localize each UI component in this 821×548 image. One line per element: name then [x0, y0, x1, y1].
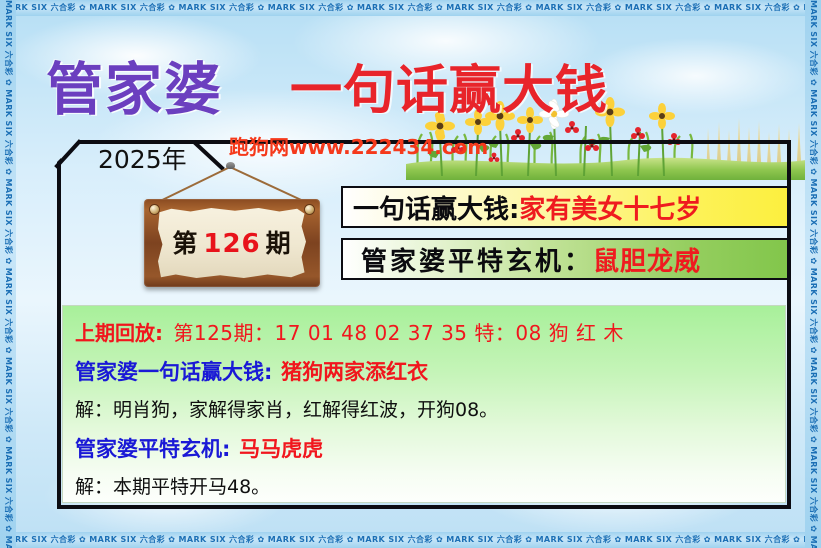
- banner-saying-value: 家有美女十七岁: [519, 189, 701, 226]
- masthead: 管家婆 一句话赢大钱: [46, 44, 706, 120]
- poster-page: 管家婆 一句话赢大钱 跑狗网www.222434.com 2025年: [0, 0, 821, 548]
- border-pattern-top-text: MARK SIX 六合彩 ✿ MARK SIX 六合彩 ✿ MARK SIX 六…: [0, 3, 821, 12]
- sign-ring-right-icon: [305, 205, 314, 214]
- content-panel: 上期回放: 第125期：17 01 48 02 37 35 特：08 狗 红 木…: [62, 305, 786, 503]
- sign-ring-left-icon: [150, 205, 159, 214]
- previous-draw-row: 上期回放: 第125期：17 01 48 02 37 35 特：08 狗 红 木: [75, 317, 785, 346]
- issue-sign: 第126期: [122, 162, 338, 302]
- banner-saying: 一句话赢大钱: 家有美女十七岁: [341, 186, 789, 228]
- brand-title: 管家婆: [46, 44, 223, 126]
- previous-mystic-row: 管家婆平特玄机: 马马虎虎: [75, 433, 785, 463]
- border-pattern-right-text: MARK SIX 六合彩 ✿ MARK SIX 六合彩 ✿ MARK SIX 六…: [805, 0, 821, 548]
- previous-saying-explanation: 解：明肖狗，家解得家肖，红解得红波，开狗08。: [75, 395, 785, 422]
- issue-suffix: 期: [266, 229, 292, 258]
- sign-board: 第126期: [144, 199, 320, 287]
- border-pattern-bottom: MARK SIX 六合彩 ✿ MARK SIX 六合彩 ✿ MARK SIX 六…: [0, 532, 821, 548]
- border-pattern-left-text: MARK SIX 六合彩 ✿ MARK SIX 六合彩 ✿ MARK SIX 六…: [0, 0, 16, 548]
- frame-corner-chamfer: [53, 136, 93, 176]
- banner-mystic-value: 鼠胆龙威: [593, 241, 701, 278]
- previous-saying-value: 猪狗两家添红衣: [279, 360, 428, 384]
- banner-mystic: 管家婆平特玄机： 鼠胆龙威: [341, 238, 789, 280]
- border-pattern-right: MARK SIX 六合彩 ✿ MARK SIX 六合彩 ✿ MARK SIX 六…: [805, 0, 821, 548]
- banner-mystic-label: 管家婆平特玄机：: [343, 241, 593, 278]
- border-pattern-top: MARK SIX 六合彩 ✿ MARK SIX 六合彩 ✿ MARK SIX 六…: [0, 0, 821, 16]
- banner-saying-label: 一句话赢大钱:: [343, 189, 519, 226]
- previous-saying-label: 管家婆一句话赢大钱:: [75, 360, 272, 384]
- border-pattern-left: MARK SIX 六合彩 ✿ MARK SIX 六合彩 ✿ MARK SIX 六…: [0, 0, 16, 548]
- slogan-title: 一句话赢大钱: [290, 48, 608, 123]
- border-pattern-bottom-text: MARK SIX 六合彩 ✿ MARK SIX 六合彩 ✿ MARK SIX 六…: [0, 535, 821, 544]
- previous-mystic-label: 管家婆平特玄机:: [75, 437, 230, 461]
- previous-draw-label: 上期回放:: [75, 321, 163, 345]
- previous-draw-value: 第125期：17 01 48 02 37 35 特：08 狗 红 木: [169, 321, 624, 345]
- previous-mystic-explanation: 解：本期平特开马48。: [75, 472, 785, 499]
- issue-number: 126: [198, 229, 265, 259]
- previous-mystic-value: 马马虎虎: [237, 437, 323, 461]
- sky-background: 管家婆 一句话赢大钱 跑狗网www.222434.com 2025年: [16, 16, 805, 532]
- site-url-link[interactable]: 跑狗网www.222434.com: [229, 131, 488, 160]
- sign-paper: 第126期: [158, 208, 306, 278]
- issue-number-text: 第126期: [172, 224, 291, 260]
- sign-nail-icon: [226, 162, 235, 169]
- previous-saying-row: 管家婆一句话赢大钱: 猪狗两家添红衣: [75, 356, 785, 386]
- issue-prefix: 第: [172, 229, 198, 258]
